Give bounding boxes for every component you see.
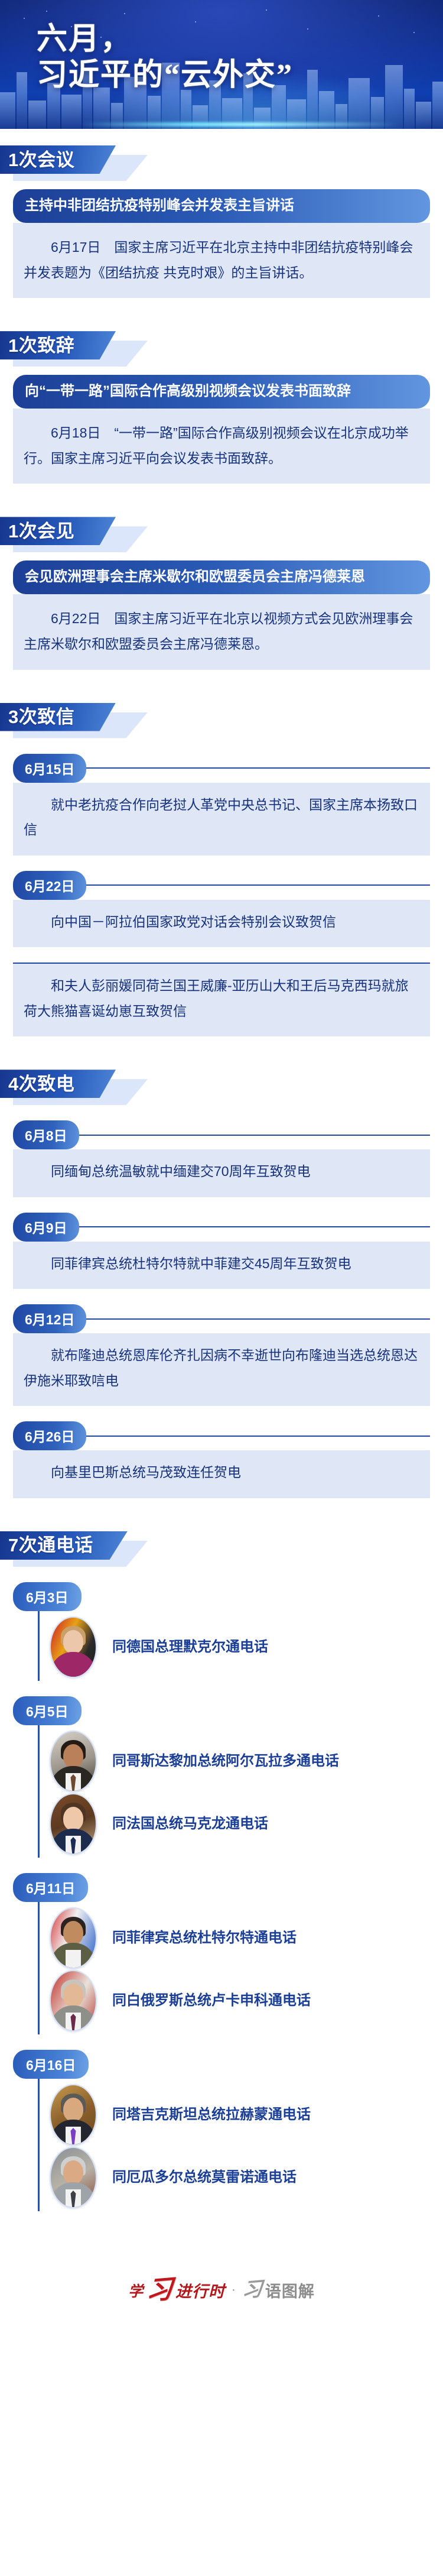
page-title-line2: 习近平的“云外交” bbox=[37, 57, 293, 93]
brand-logo[interactable]: 学 习 进行时 · 习 语图解 bbox=[128, 2279, 315, 2302]
entry-body-text: 就布隆迪总统恩库伦齐扎因病不幸逝世向布隆迪当选总统恩达伊施米耶致唁电 bbox=[24, 1343, 419, 1393]
date-pill: 6月8日 bbox=[13, 1120, 79, 1149]
date-row: 6月22日 bbox=[13, 871, 430, 900]
call-date-pill: 6月5日 bbox=[13, 1696, 82, 1725]
entry-title-pill: 向“一带一路”国际合作高级别视频会议发表书面致辞 bbox=[13, 375, 430, 409]
entry-body-panel: 同缅甸总统温敏就中缅建交70周年互致贺电 bbox=[13, 1149, 430, 1197]
date-rule bbox=[13, 963, 430, 964]
call-item[interactable]: 同哥斯达黎加总统阿尔瓦拉多通电话 bbox=[50, 1730, 430, 1793]
call-item[interactable]: 同德国总理默克尔通电话 bbox=[50, 1616, 430, 1679]
call-text: 同哥斯达黎加总统阿尔瓦拉多通电话 bbox=[112, 1751, 339, 1771]
infographic-page: 六月， 习近平的“云外交” 1次会议 主持中非团结抗疫特别峰会并发表主旨讲话 6… bbox=[0, 0, 443, 2346]
call-text: 同菲律宾总统杜特尔特通电话 bbox=[112, 1928, 297, 1948]
call-group: 同塔吉克斯坦总统拉赫蒙通电话 同厄瓜多尔总统莫雷诺通电话 bbox=[13, 2079, 430, 2211]
call-group: 同菲律宾总统杜特尔特通电话 同白俄罗斯总统卢卡申科通电话 bbox=[13, 1902, 430, 2034]
section-banner: 4次致电 bbox=[0, 1066, 443, 1105]
section-banner: 3次致信 bbox=[0, 699, 443, 738]
section-banner: 1次会议 bbox=[0, 142, 443, 181]
entry-body-panel: 6月22日 国家主席习近平在北京以视频方式会见欧洲理事会主席米歇尔和欧盟委员会主… bbox=[13, 594, 430, 669]
entry-body-text: 6月18日 “一带一路”国际合作高级别视频会议在北京成功举行。国家主席习近平向会… bbox=[24, 420, 419, 471]
date-row: 6月9日 bbox=[13, 1213, 430, 1242]
alvarado-avatar bbox=[50, 1731, 97, 1792]
banner-label: 7次通电话 bbox=[8, 1536, 93, 1554]
date-pill: 6月26日 bbox=[13, 1421, 86, 1450]
page-title-line1: 六月， bbox=[37, 22, 132, 56]
banner-label: 4次致电 bbox=[8, 1075, 74, 1093]
merkel-avatar bbox=[50, 1616, 97, 1678]
banner-shape: 1次会见 bbox=[0, 517, 116, 545]
logo-separator-dot: · bbox=[232, 2283, 236, 2297]
date-pill: 6月15日 bbox=[13, 754, 86, 783]
footer: 学 习 进行时 · 习 语图解 bbox=[0, 2228, 443, 2346]
lukashenko-avatar bbox=[50, 1970, 97, 2031]
moreno-avatar bbox=[50, 2147, 97, 2208]
entry-body-text: 就中老抗疫合作向老挝人革党中央总书记、国家主席本扬致口信 bbox=[24, 792, 419, 843]
logo-yutujie-text: 语图解 bbox=[265, 2279, 315, 2302]
section-3: 1次会见 会见欧洲理事会主席米歇尔和欧盟委员会主席冯德莱恩 6月22日 国家主席… bbox=[0, 513, 443, 686]
section-2: 1次致辞 向“一带一路”国际合作高级别视频会议发表书面致辞 6月18日 “一带一… bbox=[0, 328, 443, 500]
logo-xue-char: 学 bbox=[128, 2280, 143, 2301]
entry-body-panel: 向中国－阿拉伯国家政党对话会特别会议致贺信 bbox=[13, 900, 430, 948]
banner-shape: 1次会议 bbox=[0, 145, 116, 174]
banner-label: 1次会见 bbox=[8, 522, 74, 540]
section-spacer bbox=[0, 1036, 443, 1053]
entry-body-text: 同菲律宾总统杜特尔特就中菲建交45周年互致贺电 bbox=[24, 1251, 419, 1276]
rahmon-avatar bbox=[50, 2084, 97, 2146]
entry-body-text: 向基里巴斯总统马茂致连任贺电 bbox=[24, 1460, 419, 1485]
call-date-pill: 6月11日 bbox=[13, 1873, 88, 1902]
sections-container: 1次会议 主持中非团结抗疫特别峰会并发表主旨讲话 6月17日 国家主席习近平在北… bbox=[0, 142, 443, 2228]
banner-label: 3次致信 bbox=[8, 708, 74, 726]
entry-body-panel: 向基里巴斯总统马茂致连任贺电 bbox=[13, 1450, 430, 1498]
section-spacer bbox=[0, 1498, 443, 1515]
call-item[interactable]: 同法国总统马克龙通电话 bbox=[50, 1793, 430, 1855]
section-spacer bbox=[0, 2211, 443, 2228]
entry-title-pill: 主持中非团结抗疫特别峰会并发表主旨讲话 bbox=[13, 189, 430, 223]
horizon-glow bbox=[80, 122, 399, 127]
hero-header: 六月， 习近平的“云外交” bbox=[0, 0, 443, 129]
call-text: 同塔吉克斯坦总统拉赫蒙通电话 bbox=[112, 2105, 311, 2125]
section-banner: 1次致辞 bbox=[0, 328, 443, 367]
call-date-pill: 6月3日 bbox=[13, 1582, 82, 1611]
section-6: 7次通电话 6月3日 同德国总理默克尔通电话 bbox=[0, 1528, 443, 2228]
banner-shape: 4次致电 bbox=[0, 1070, 116, 1098]
date-row bbox=[13, 963, 430, 964]
entry-body-text: 向中国－阿拉伯国家政党对话会特别会议致贺信 bbox=[24, 909, 419, 935]
date-rule bbox=[73, 1226, 430, 1227]
section-5: 4次致电 6月8日 同缅甸总统温敏就中缅建交70周年互致贺电 6月9日 同菲律宾… bbox=[0, 1066, 443, 1515]
entry-body-text: 同缅甸总统温敏就中缅建交70周年互致贺电 bbox=[24, 1159, 419, 1184]
call-date-row: 6月3日 bbox=[13, 1582, 430, 1611]
banner-shape: 7次通电话 bbox=[0, 1531, 128, 1560]
entry-body-text: 6月22日 国家主席习近平在北京以视频方式会见欧洲理事会主席米歇尔和欧盟委员会主… bbox=[24, 606, 419, 656]
section-banner: 7次通电话 bbox=[0, 1528, 443, 1567]
entry-body-text: 6月17日 国家主席习近平在北京主持中非团结抗疫特别峰会并发表题为《团结抗疫 共… bbox=[24, 235, 419, 285]
entry-body-panel: 和夫人彭丽媛同荷兰国王威廉-亚历山大和王后马克西玛就旅荷大熊猫喜诞幼崽互致贺信 bbox=[13, 964, 430, 1036]
date-rule bbox=[80, 767, 430, 769]
date-row: 6月8日 bbox=[13, 1120, 430, 1149]
call-date-row: 6月5日 bbox=[13, 1696, 430, 1725]
date-rule bbox=[80, 1318, 430, 1320]
date-rule bbox=[80, 1436, 430, 1437]
date-row: 6月26日 bbox=[13, 1421, 430, 1450]
entry-body-panel: 6月17日 国家主席习近平在北京主持中非团结抗疫特别峰会并发表题为《团结抗疫 共… bbox=[13, 223, 430, 298]
call-date-pill: 6月16日 bbox=[13, 2050, 89, 2079]
duterte-avatar bbox=[50, 1907, 97, 1969]
entry-body-panel: 就布隆迪总统恩库伦齐扎因病不幸逝世向布隆迪当选总统恩达伊施米耶致唁电 bbox=[13, 1333, 430, 1406]
entry-title-pill: 会见欧洲理事会主席米歇尔和欧盟委员会主席冯德莱恩 bbox=[13, 560, 430, 594]
banner-label: 1次会议 bbox=[8, 151, 74, 169]
call-group: 同德国总理默克尔通电话 bbox=[13, 1611, 430, 1681]
date-rule bbox=[73, 1135, 430, 1136]
logo-xi-calligraphy-icon: 习 bbox=[146, 2279, 174, 2302]
date-row: 6月12日 bbox=[13, 1304, 430, 1333]
date-pill: 6月22日 bbox=[13, 871, 86, 900]
section-1: 1次会议 主持中非团结抗疫特别峰会并发表主旨讲话 6月17日 国家主席习近平在北… bbox=[0, 142, 443, 315]
date-rule bbox=[80, 884, 430, 886]
section-4: 3次致信 6月15日 就中老抗疫合作向老挝人革党中央总书记、国家主席本扬致口信 … bbox=[0, 699, 443, 1054]
section-spacer bbox=[0, 670, 443, 686]
call-group: 同哥斯达黎加总统阿尔瓦拉多通电话 同法国总统马克龙通电话 bbox=[13, 1725, 430, 1858]
call-item[interactable]: 同厄瓜多尔总统莫雷诺通电话 bbox=[50, 2146, 430, 2209]
call-item[interactable]: 同菲律宾总统杜特尔特通电话 bbox=[50, 1907, 430, 1969]
section-spacer bbox=[0, 484, 443, 500]
banner-label: 1次致辞 bbox=[8, 336, 74, 355]
section-banner: 1次会见 bbox=[0, 513, 443, 552]
call-date-row: 6月11日 bbox=[13, 1873, 430, 1902]
date-pill: 6月9日 bbox=[13, 1213, 79, 1242]
logo-xi-calligraphy-gray-icon: 习 bbox=[242, 2282, 263, 2299]
call-date-row: 6月16日 bbox=[13, 2050, 430, 2079]
logo-jinxingshi-text: 进行时 bbox=[175, 2279, 225, 2302]
call-text: 同德国总理默克尔通电话 bbox=[112, 1637, 268, 1657]
macron-avatar bbox=[50, 1793, 97, 1855]
date-row: 6月15日 bbox=[13, 754, 430, 783]
call-text: 同厄瓜多尔总统莫雷诺通电话 bbox=[112, 2167, 297, 2188]
date-pill: 6月12日 bbox=[13, 1304, 86, 1333]
entry-body-panel: 就中老抗疫合作向老挝人革党中央总书记、国家主席本扬致口信 bbox=[13, 783, 430, 856]
banner-shape: 3次致信 bbox=[0, 703, 116, 731]
section-spacer bbox=[0, 298, 443, 315]
call-item[interactable]: 同塔吉克斯坦总统拉赫蒙通电话 bbox=[50, 2084, 430, 2146]
entry-body-panel: 6月18日 “一带一路”国际合作高级别视频会议在北京成功举行。国家主席习近平向会… bbox=[13, 409, 430, 484]
call-text: 同白俄罗斯总统卢卡申科通电话 bbox=[112, 1991, 311, 2011]
banner-shape: 1次致辞 bbox=[0, 331, 116, 359]
entry-body-panel: 同菲律宾总统杜特尔特就中菲建交45周年互致贺电 bbox=[13, 1242, 430, 1289]
calls-timeline: 6月3日 同德国总理默克尔通电话 6月5日 bbox=[13, 1582, 430, 2211]
call-text: 同法国总统马克龙通电话 bbox=[112, 1814, 268, 1834]
entry-body-text: 和夫人彭丽媛同荷兰国王威廉-亚历山大和王后马克西玛就旅荷大熊猫喜诞幼崽互致贺信 bbox=[24, 973, 419, 1023]
call-item[interactable]: 同白俄罗斯总统卢卡申科通电话 bbox=[50, 1969, 430, 2032]
page-title: 六月， 习近平的“云外交” bbox=[37, 21, 293, 94]
